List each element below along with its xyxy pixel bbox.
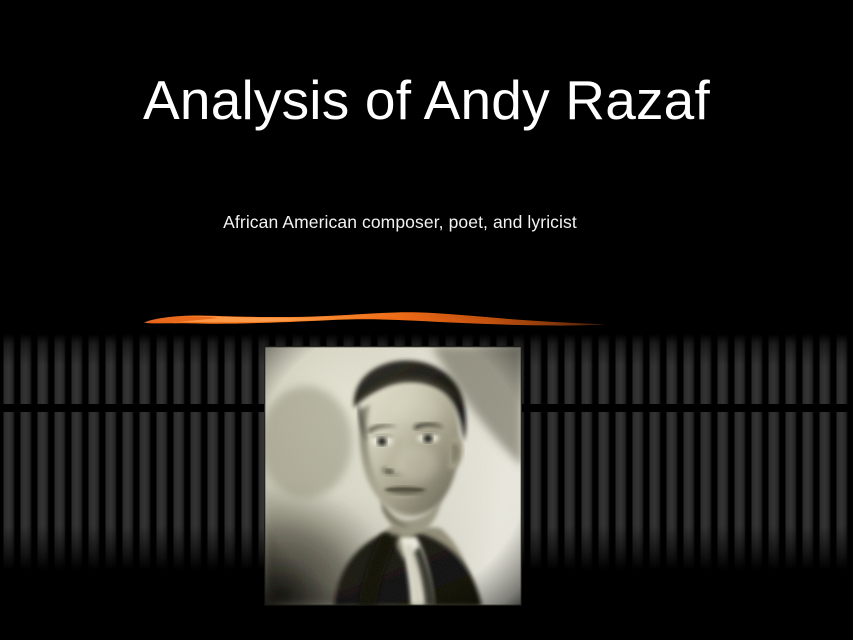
orange-brush-divider [140, 300, 610, 336]
brush-stroke-body [145, 312, 606, 325]
slide-title: Analysis of Andy Razaf [0, 70, 853, 132]
brush-stroke-highlight [150, 313, 512, 322]
presentation-slide: Analysis of Andy Razaf African American … [0, 0, 853, 640]
andy-razaf-portrait [264, 346, 522, 606]
slide-subtitle: African American composer, poet, and lyr… [0, 212, 800, 233]
portrait-photo-image [264, 346, 522, 606]
brush-stroke-icon [140, 300, 610, 336]
brush-stroke-head [144, 316, 218, 323]
